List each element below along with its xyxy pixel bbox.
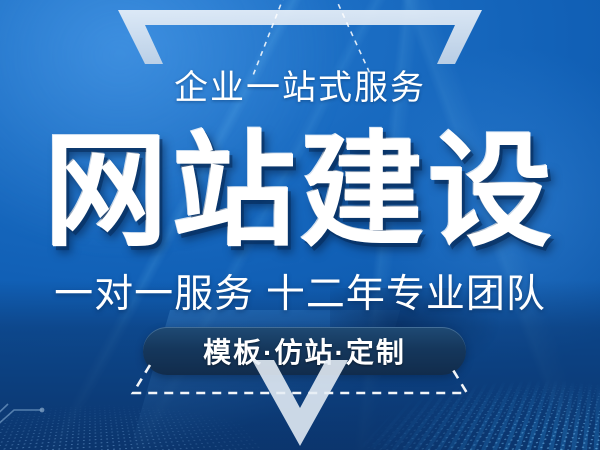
subline-text: 一对一服务 十二年专业团队 [0,272,600,318]
tagline-text: 企业一站式服务 [0,68,600,108]
bottom-dashed-trapezoid [133,365,467,393]
headline-text: 网站建设 [0,128,600,256]
bottom-frame-and-chevron [0,360,600,450]
chevron-v-mark [252,360,348,446]
promo-poster: 企业一站式服务 网站建设 一对一服务 十二年专业团队 模板·仿站·定制 [0,0,600,450]
